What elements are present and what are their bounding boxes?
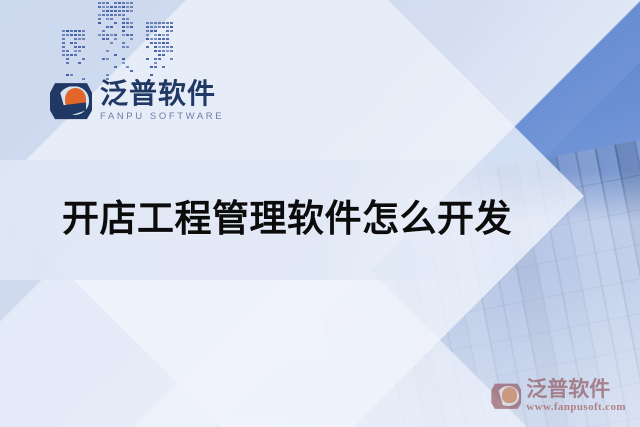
- watermark: 泛普软件 www.fanpusoft.com: [491, 379, 626, 413]
- brand-logo-text: 泛普软件 FANPU SOFTWARE: [100, 80, 224, 122]
- brand-name-en: FANPU SOFTWARE: [100, 112, 224, 122]
- brand-logo: 泛普软件 FANPU SOFTWARE: [50, 80, 224, 122]
- banner-headline: 开店工程管理软件怎么开发: [62, 198, 512, 241]
- promo-banner: 泛普软件 FANPU SOFTWARE 开店工程管理软件怎么开发 泛普软件 ww…: [0, 0, 640, 427]
- watermark-brand-cn: 泛普软件: [526, 379, 626, 400]
- fanpu-watermark-icon: [491, 382, 521, 410]
- brand-name-cn: 泛普软件: [100, 80, 224, 108]
- watermark-text: 泛普软件 www.fanpusoft.com: [526, 379, 626, 413]
- fanpu-logo-icon: [50, 81, 92, 121]
- watermark-url: www.fanpusoft.com: [526, 402, 626, 413]
